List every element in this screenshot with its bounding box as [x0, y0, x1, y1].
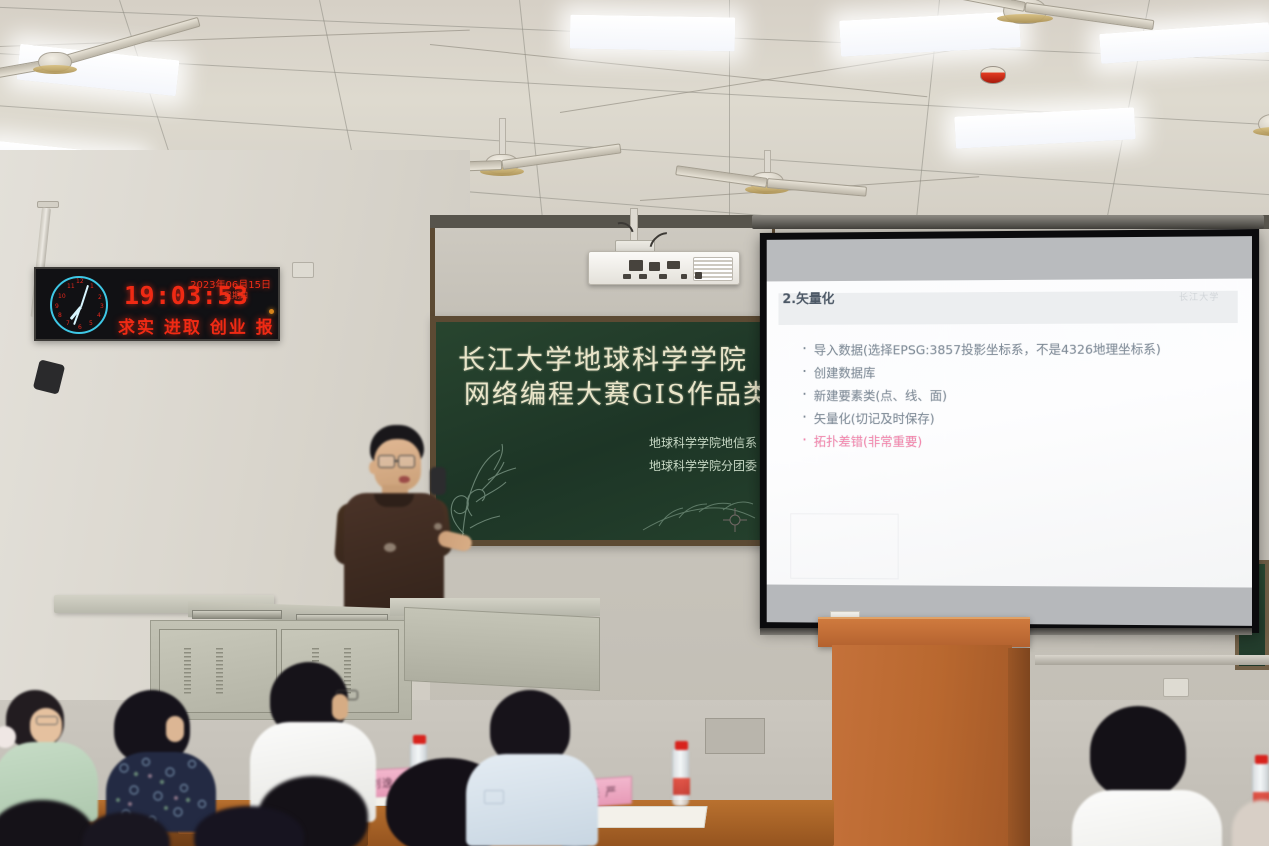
ceiling-fan [1220, 96, 1269, 156]
audience-torso [1072, 790, 1222, 846]
presentation-slide: 2.矢量化 长江大学 导入数据(选择EPSG:3857投影坐标系，不是4326地… [767, 279, 1252, 588]
audience-head [0, 800, 94, 846]
clock-numeral: 10 [58, 294, 66, 300]
glasses-lens-right [398, 455, 415, 468]
water-bottle [672, 748, 689, 806]
podium-side-panel [1008, 648, 1030, 846]
shirt-logo-icon [384, 543, 396, 552]
presenter-mouth [399, 476, 410, 483]
sleeve-logo-icon [434, 523, 442, 530]
classroom-scene: 12 1 2 3 4 5 6 7 8 9 10 11 19:03:53 2023… [0, 0, 1269, 846]
clock-numeral: 11 [67, 284, 75, 290]
audience-head [194, 806, 304, 846]
audience-torso [1232, 800, 1269, 846]
led-motto-text: 求实 进取 创业 报国 [118, 313, 278, 341]
audience-head [82, 812, 170, 846]
clock-hand-minute [80, 285, 89, 307]
ceiling-fan [960, 0, 1090, 48]
ceiling-light-panel [570, 15, 736, 52]
screen-roller-housing [752, 215, 1264, 229]
audience-member [194, 806, 314, 846]
smoke-detector-icon [980, 66, 1006, 84]
blackboard-title-line2: 网络编程大赛GIS作品类 [464, 374, 769, 411]
glasses-bridge [395, 460, 399, 462]
glasses-lens-left [378, 455, 395, 468]
ceiling-fan [0, 32, 110, 92]
audience-member [466, 690, 598, 830]
bottle-cap [1255, 755, 1268, 764]
console-drawer-rail [192, 610, 282, 619]
clock-numeral: 2 [98, 295, 102, 301]
blackboard-signature-line1: 地球科学学院地信系 [649, 434, 757, 451]
slide-bullet-item: 创建数据库 [800, 364, 1238, 381]
slide-title: 2.矢量化 [782, 288, 834, 307]
wooden-podium [832, 645, 1012, 846]
audience-member [1072, 706, 1222, 846]
camera-mount-bracket [37, 201, 59, 208]
clock-numeral: 5 [89, 321, 93, 327]
screen-band-top [767, 236, 1252, 281]
analog-clock-face: 12 1 2 3 4 5 6 7 8 9 10 11 [50, 276, 108, 334]
university-logo-watermark: 长江大学 [1179, 287, 1240, 303]
wall-socket [292, 262, 314, 278]
audience-head [1090, 706, 1186, 798]
chalk-rail [1035, 655, 1269, 665]
slide-bullet-item: 导入数据(选择EPSG:3857投影坐标系，不是4326地理坐标系) [800, 341, 1238, 358]
slide-bullet-list: 导入数据(选择EPSG:3857投影坐标系，不是4326地理坐标系) 创建数据库… [800, 341, 1238, 457]
audience-member [1232, 800, 1269, 846]
clock-numeral: 1 [90, 284, 94, 290]
clock-numeral: 4 [97, 313, 101, 319]
slide-bullet-item: 新建要素类(点、线、面) [800, 388, 1238, 405]
wall-socket [1163, 678, 1189, 697]
ceiling-fan [712, 150, 822, 210]
judge-paper [584, 806, 707, 828]
presenter-ear [369, 461, 378, 474]
presenter [322, 425, 482, 625]
led-weekday-display: 星期四 [224, 290, 248, 301]
ceiling-light-panel [954, 107, 1135, 148]
clock-numeral: 12 [76, 279, 84, 285]
glasses-icon [36, 716, 58, 725]
slide-bullet-item: 矢量化(切记及时保存) [800, 411, 1238, 427]
podium-top [818, 617, 1030, 647]
clock-numeral: 8 [58, 313, 62, 319]
side-desk-body [404, 607, 600, 691]
blackboard-title-line1: 长江大学地球科学学院 [458, 338, 748, 377]
microphone-icon [430, 467, 446, 495]
chalk-flower-drawing [639, 470, 759, 540]
audience-member [82, 812, 172, 846]
bottle-cap [413, 735, 426, 744]
audience-face [166, 716, 184, 742]
logo-text: 长江大学 [1179, 293, 1220, 303]
led-clock-board: 12 1 2 3 4 5 6 7 8 9 10 11 19:03:53 2023… [34, 267, 280, 341]
clock-numeral: 3 [100, 304, 104, 310]
ceiling-light-panel [1099, 22, 1269, 64]
led-indicator-dot [269, 309, 274, 314]
bottle-cap [675, 741, 688, 750]
projection-screen: 2.矢量化 长江大学 导入数据(选择EPSG:3857投影坐标系，不是4326地… [760, 229, 1259, 633]
audience-member [104, 690, 214, 825]
clock-numeral: 7 [66, 321, 70, 327]
bottle-label [673, 778, 690, 795]
slide-header-band [778, 291, 1237, 325]
slide-faint-graphic [790, 513, 898, 579]
slide-bullet-item-accent: 拓扑差错(非常重要) [800, 434, 1238, 450]
led-date-display: 2023年06月15日 [190, 276, 271, 291]
wall-utility-box [705, 718, 765, 754]
blackboard-signature-line2: 地球科学学院分团委 [649, 457, 757, 474]
shirt-pocket [484, 790, 504, 804]
clock-numeral: 9 [55, 304, 59, 310]
clock-numeral: 6 [78, 325, 82, 331]
hair-tie [0, 726, 16, 748]
audience-face [30, 708, 62, 744]
